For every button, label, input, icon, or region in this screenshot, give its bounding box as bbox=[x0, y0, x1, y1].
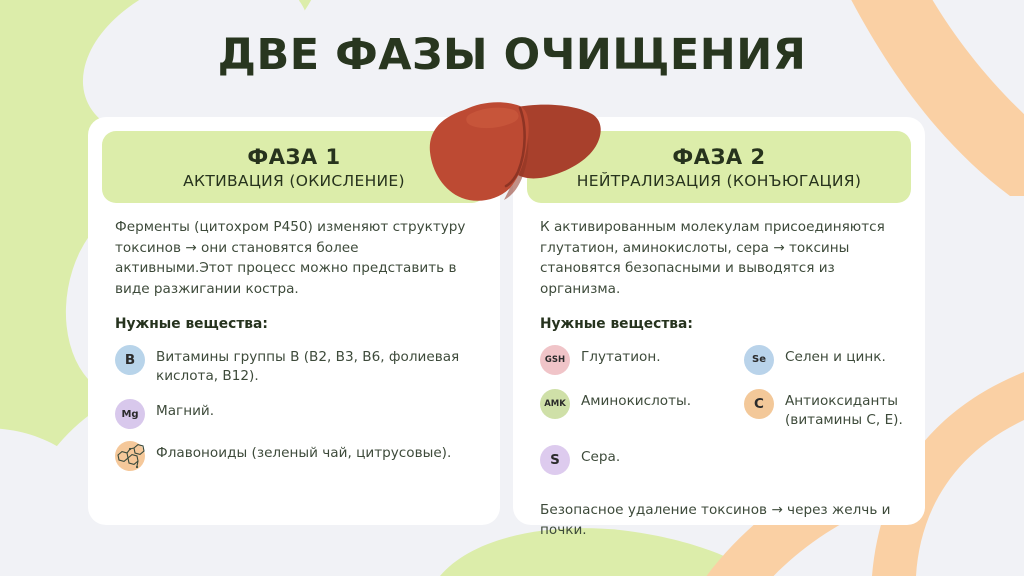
phase-1-title: ФАЗА 1 bbox=[247, 145, 340, 169]
list-item: Mg Магний. bbox=[115, 398, 478, 429]
list-item-label: Селен и цинк. bbox=[785, 344, 886, 368]
phase-2-subhead: Нужные вещества: bbox=[540, 316, 903, 332]
list-item-label: Флавоноиды (зеленый чай, цитрусовые). bbox=[156, 440, 451, 464]
phase-1-items: B Витамины группы В (В2, В3, В6, фолиева… bbox=[115, 344, 478, 482]
list-item-spacer bbox=[744, 444, 903, 475]
badge-vitamin-b-icon: B bbox=[115, 345, 145, 375]
list-item: AMK Аминокислоты. bbox=[540, 388, 736, 431]
phase-2-body: К активированным молекулам присоединяютс… bbox=[540, 217, 903, 511]
list-item: Флавоноиды (зеленый чай, цитрусовые). bbox=[115, 440, 478, 471]
badge-magnesium-icon: Mg bbox=[115, 399, 145, 429]
phase-2-title: ФАЗА 2 bbox=[672, 145, 765, 169]
green-blob-notch-upper bbox=[95, 0, 326, 23]
list-item-label: Витамины группы В (В2, В3, В6, фолиевая … bbox=[156, 344, 478, 387]
list-item: Se Селен и цинк. bbox=[744, 344, 903, 375]
list-item-label: Глутатион. bbox=[581, 344, 661, 368]
phase-1-body: Ферменты (цитохром Р450) изменяют структ… bbox=[115, 217, 478, 511]
list-item: C Антиоксиданты (витамины C, E). bbox=[744, 388, 903, 431]
list-item-label: Магний. bbox=[156, 398, 214, 422]
phase-1-subhead: Нужные вещества: bbox=[115, 316, 478, 332]
liver-illustration bbox=[424, 98, 604, 206]
phase-1-subtitle: АКТИВАЦИЯ (ОКИСЛЕНИЕ) bbox=[183, 172, 405, 190]
badge-glutathione-icon: GSH bbox=[540, 345, 570, 375]
badge-selenium-icon: Se bbox=[744, 345, 774, 375]
list-item-label: Антиоксиданты (витамины C, E). bbox=[785, 388, 903, 431]
phase-2-items: GSH Глутатион. Se Селен и цинк. AMK Амин… bbox=[540, 344, 903, 488]
badge-vitamin-c-icon: C bbox=[744, 389, 774, 419]
phase-2-footnote: Безопасное удаление токсинов → через жел… bbox=[540, 500, 903, 541]
list-item-label: Аминокислоты. bbox=[581, 388, 691, 412]
badge-amino-acids-icon: AMK bbox=[540, 389, 570, 419]
phase-2-subtitle: НЕЙТРАЛИЗАЦИЯ (КОНЪЮГАЦИЯ) bbox=[577, 172, 861, 190]
phase-2-paragraph: К активированным молекулам присоединяютс… bbox=[540, 217, 903, 300]
phase-1-paragraph: Ферменты (цитохром Р450) изменяют структ… bbox=[115, 217, 478, 300]
list-item: S Сера. bbox=[540, 444, 736, 475]
list-item-label: Сера. bbox=[581, 444, 620, 468]
list-item: GSH Глутатион. bbox=[540, 344, 736, 375]
flavonoid-molecule-icon bbox=[115, 441, 145, 471]
list-item: B Витамины группы В (В2, В3, В6, фолиева… bbox=[115, 344, 478, 387]
badge-sulfur-icon: S bbox=[540, 445, 570, 475]
page-title: ДВЕ ФАЗЫ ОЧИЩЕНИЯ bbox=[0, 30, 1024, 80]
